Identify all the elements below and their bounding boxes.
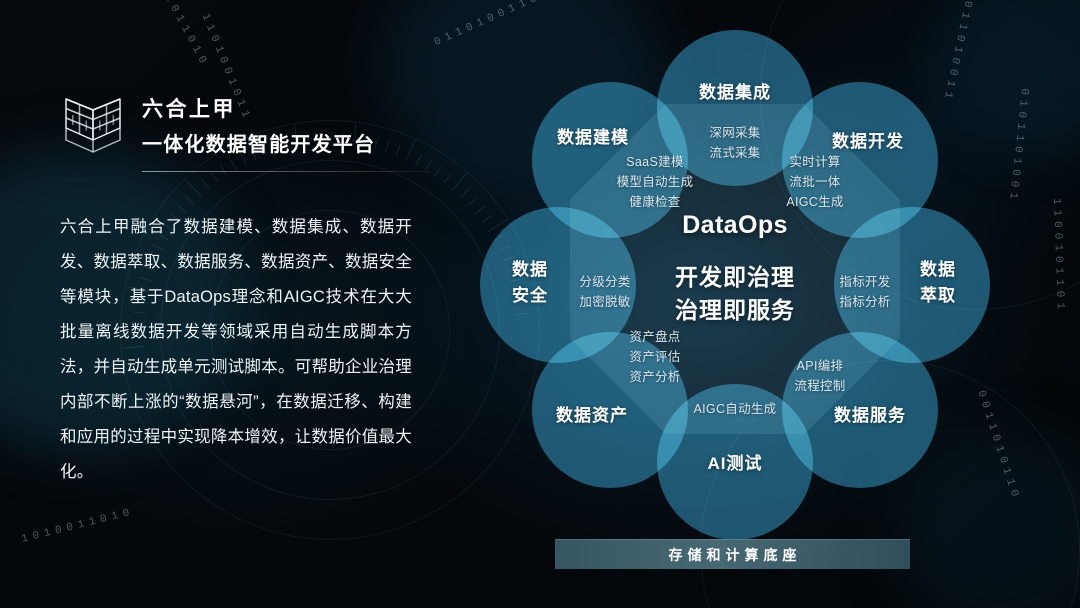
brand-text: 六合上甲 一体化数据智能开发平台 (142, 93, 375, 157)
tick-mark (460, 188, 469, 197)
brand-block: 六合上甲 一体化数据智能开发平台 (60, 88, 430, 162)
foundation-bar: 存储和计算底座 (555, 539, 910, 569)
node-title-data-assets: 数据资产 (532, 403, 652, 429)
node-title-ai-testing: AI测试 (675, 451, 795, 477)
tick-mark (435, 166, 443, 176)
node-subs-data-services: API编排 流程控制 (760, 356, 880, 396)
binary-arc: 1001011010 (145, 0, 210, 70)
node-subs-ai-testing: AIGC自动生成 (670, 399, 800, 419)
binary-arc: 1010011010 (20, 506, 135, 546)
node-title-data-services: 数据服务 (810, 403, 930, 429)
node-title-data-modeling: 数据建模 (533, 125, 653, 151)
foundation-label: 存储和计算底座 (664, 545, 802, 565)
binary-arc: 1100101101 (1050, 198, 1066, 314)
brand-name: 六合上甲 (142, 93, 375, 123)
diagram-center: DataOps 开发即治理 治理即服务 (675, 193, 795, 345)
description-paragraph: 六合上甲融合了数据建模、数据集成、数据开发、数据萃取、数据服务、数据资产、数据安… (60, 210, 412, 490)
tick-mark (452, 173, 467, 190)
venn-diagram: 数据集成 数据建模 数据开发 数据 安全 数据 萃取 数据资产 数据服务 AI测… (470, 24, 1000, 514)
left-info-panel: 六合上甲 一体化数据智能开发平台 六合上甲融合了数据建模、数据集成、数据开发、数… (60, 88, 430, 490)
slide-canvas: 1001011010 1101001011 0110100110 1011010… (0, 0, 1080, 608)
node-title-data-integration: 数据集成 (675, 80, 795, 106)
center-title-cn: 开发即治理 治理即服务 (675, 261, 795, 327)
tick-mark (444, 173, 452, 183)
brand-tagline: 一体化数据智能开发平台 (142, 128, 375, 157)
center-title-en: DataOps (675, 211, 795, 240)
node-subs-data-security: 分级分类 加密脱敏 (550, 272, 660, 312)
binary-arc: 0101101001 (1006, 88, 1030, 205)
node-subs-data-extraction: 指标开发 指标分析 (810, 272, 920, 312)
brand-divider (142, 171, 430, 172)
isometric-brick-corner-icon (60, 90, 126, 160)
